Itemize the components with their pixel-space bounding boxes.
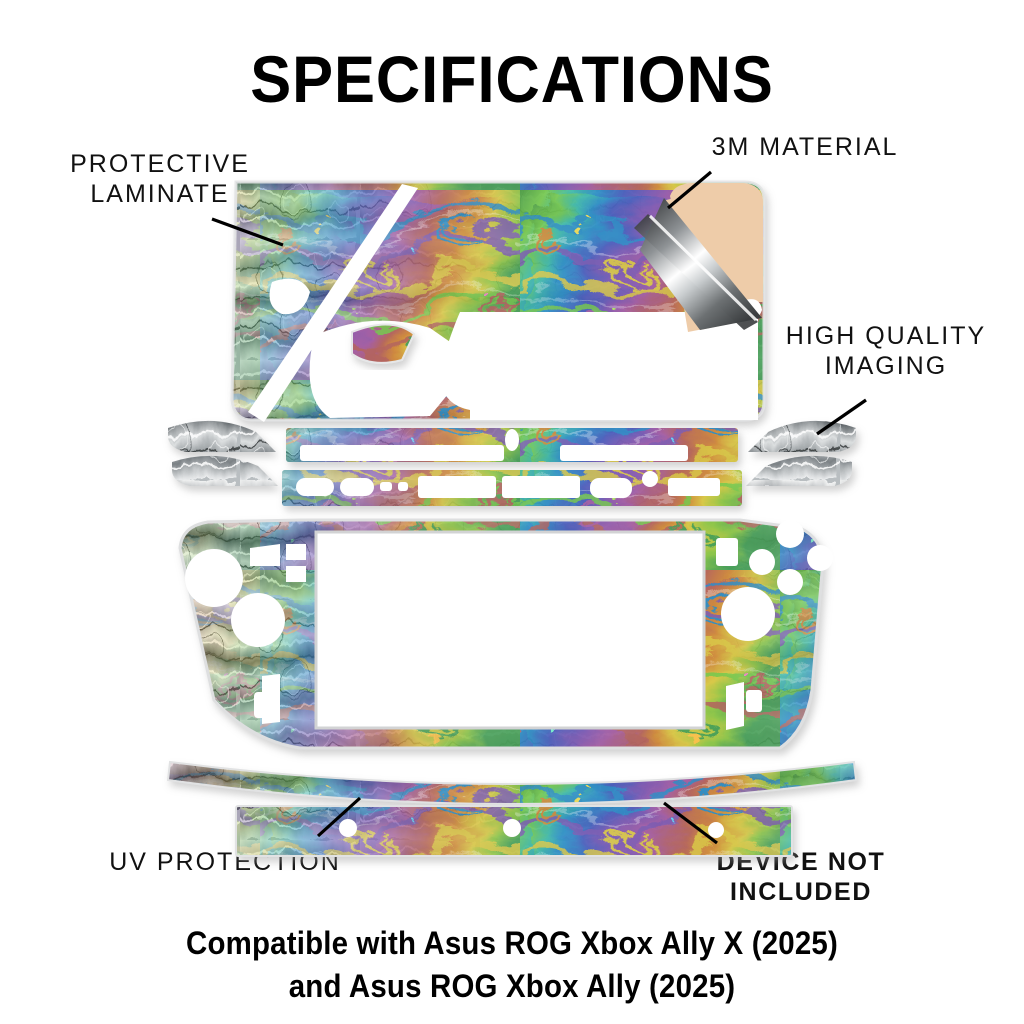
screen-cutout (316, 532, 704, 728)
skin-sheet-artwork (0, 0, 1024, 1024)
skin-piece-top-strip (270, 415, 760, 475)
specifications-graphic: SPECIFICATIONS (0, 0, 1024, 1024)
skin-piece-bottom-strip (230, 800, 800, 862)
skin-piece-port-strip (266, 458, 762, 520)
